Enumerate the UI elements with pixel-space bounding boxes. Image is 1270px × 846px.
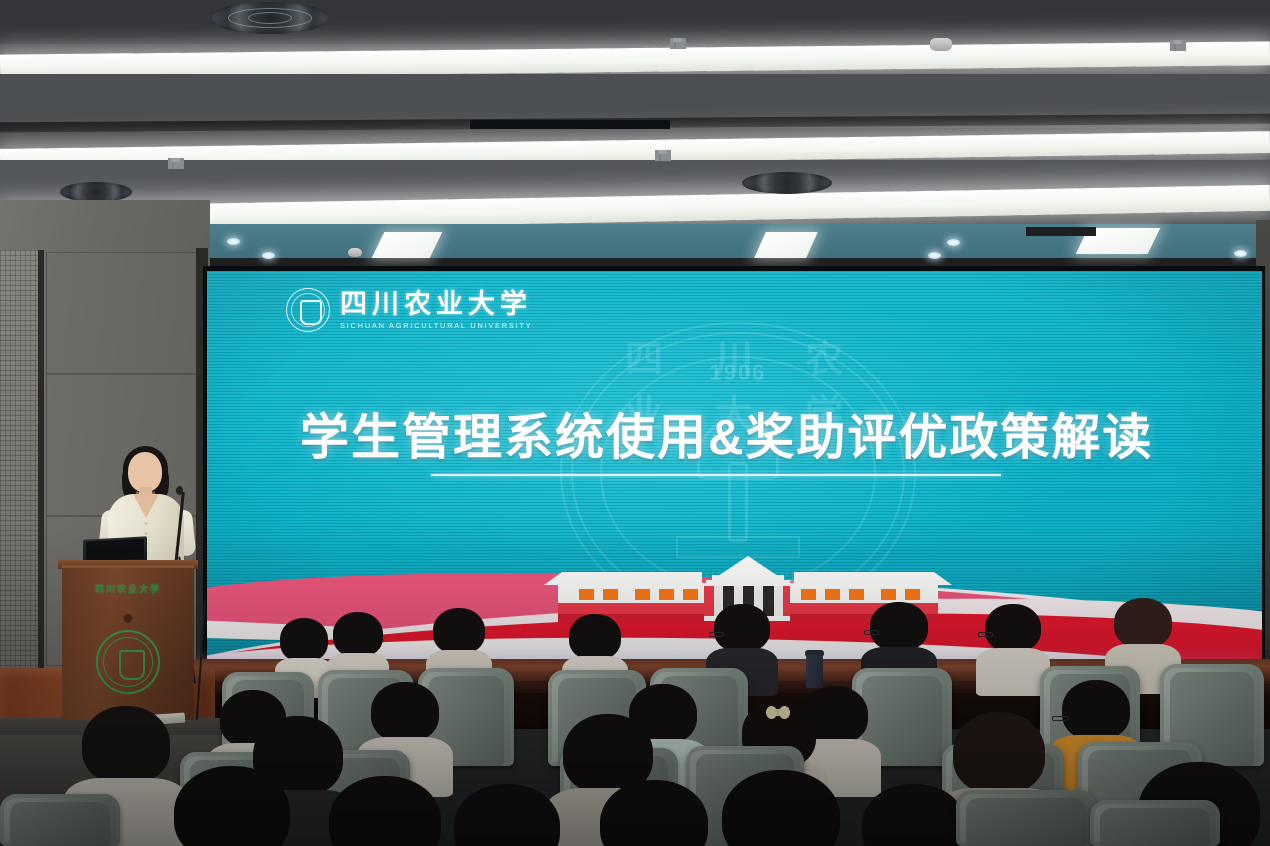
acoustic-pad xyxy=(46,374,198,516)
sprinkler-icon xyxy=(655,150,671,161)
audience-member xyxy=(172,766,292,846)
glasses-icon xyxy=(709,632,724,637)
auditorium-seat xyxy=(956,790,1096,846)
university-name-en: SICHUAN AGRICULTURAL UNIVERSITY xyxy=(340,321,532,330)
air-vent-icon xyxy=(60,182,132,202)
perforated-acoustic-panel xyxy=(0,250,40,670)
thermos-bottle xyxy=(806,655,823,688)
smoke-detector-icon xyxy=(348,248,362,257)
downlight-icon xyxy=(1234,250,1247,257)
downlight-icon xyxy=(227,238,240,245)
university-logo: 四川农业大学 SICHUAN AGRICULTURAL UNIVERSITY xyxy=(286,288,532,332)
lecture-hall-photo: 1906 AGRICULTURAL UNIVERSITY 四川农业大学 xyxy=(0,0,1270,846)
auditorium-seat xyxy=(1090,800,1220,846)
audience-member xyxy=(326,776,444,846)
podium-nameplate: 四川农业大学 xyxy=(62,582,194,595)
downlight-icon xyxy=(947,239,960,246)
glasses-icon xyxy=(1052,716,1069,721)
glasses-icon xyxy=(978,632,993,637)
podium-seal-icon xyxy=(96,630,160,694)
acoustic-pad xyxy=(46,252,198,374)
podium: 四川农业大学 xyxy=(62,565,194,720)
glasses-icon xyxy=(864,630,879,635)
audience-member xyxy=(860,784,968,846)
auditorium-seat xyxy=(0,794,120,846)
audience-member xyxy=(982,604,1044,682)
audience-member xyxy=(598,780,710,846)
hair-bow xyxy=(766,706,790,719)
university-seal-icon xyxy=(286,288,330,332)
downlight-icon xyxy=(928,252,941,259)
university-name-cn: 四川农业大学 xyxy=(340,291,532,318)
downlight-icon xyxy=(262,252,275,259)
sprinkler-icon xyxy=(1170,40,1186,51)
sprinkler-icon xyxy=(670,38,686,49)
slide-main-title: 学生管理系统使用&奖助评优政策解读 xyxy=(300,414,1230,463)
smoke-detector-icon xyxy=(930,38,952,51)
audience-member xyxy=(452,784,562,846)
sprinkler-icon xyxy=(168,158,184,169)
title-underline xyxy=(431,474,1001,476)
air-vent-icon xyxy=(742,172,832,194)
speaker-head xyxy=(128,452,162,492)
audience-member xyxy=(720,770,842,846)
podium-knob xyxy=(124,614,133,623)
